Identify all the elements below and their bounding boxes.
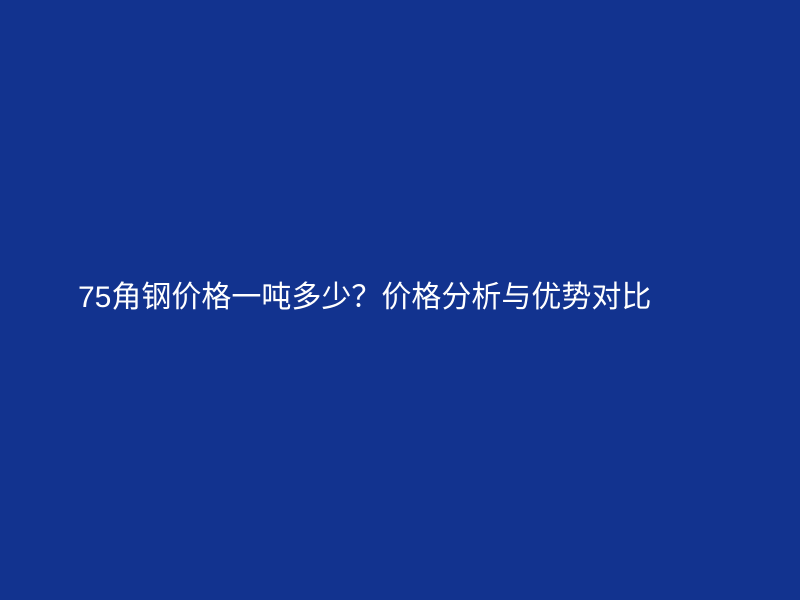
banner-canvas: 75角钢价格一吨多少？价格分析与优势对比 — [0, 0, 800, 600]
banner-title: 75角钢价格一吨多少？价格分析与优势对比 — [78, 281, 651, 315]
